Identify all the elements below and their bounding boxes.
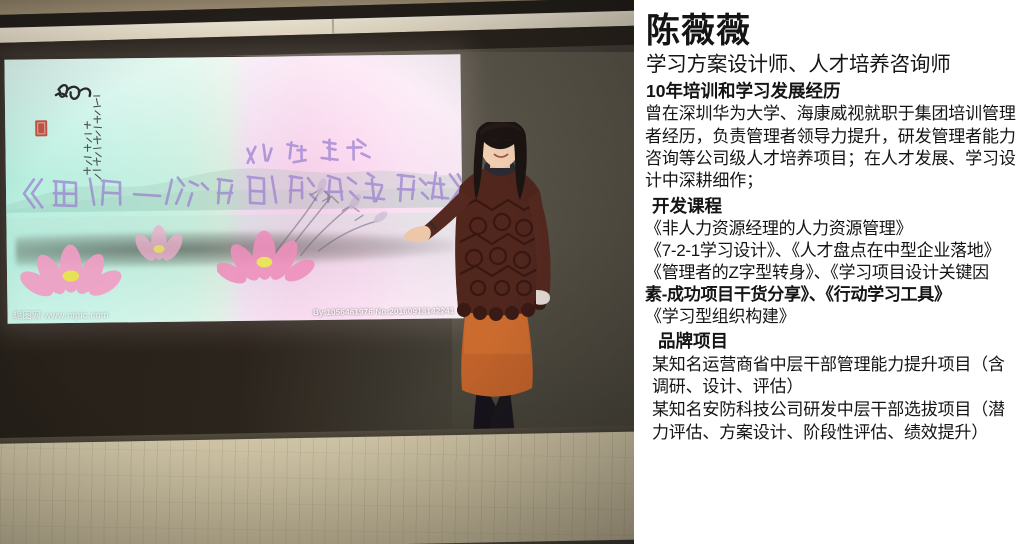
project-line: 某知名运营商省中层干部管理能力提升项目（含 bbox=[652, 354, 1018, 377]
course-line: 《非人力资源经理的人力资源管理》 bbox=[645, 218, 1018, 240]
slide-lotus-flower bbox=[16, 227, 126, 302]
course-line: 《学习型组织构建》 bbox=[645, 306, 1018, 328]
course-line: 《7-2-1学习设计》、《人才盘点在中型企业落地》 bbox=[645, 240, 1018, 262]
slide-watermark-left: 昵图网 www.nipic.com bbox=[13, 308, 109, 322]
presenter-subtitle: 学习方案设计师、人才培养咨询师 bbox=[646, 52, 1018, 77]
section-heading-brand-projects: 品牌项目 bbox=[658, 330, 1018, 352]
section-heading-courses: 开发课程 bbox=[652, 195, 1018, 217]
room-floor bbox=[0, 431, 634, 544]
slide-lotus-flower-right bbox=[216, 214, 317, 294]
project-line: 力评估、方案设计、阶段性评估、绩效提升） bbox=[652, 422, 1018, 445]
trainer-profile-card: 昵图网 www.nipic.com By:1056461976 No:20160… bbox=[0, 0, 1024, 544]
section-heading-experience: 10年培训和学习发展经历 bbox=[646, 80, 1018, 102]
section-body-experience: 曾在深圳华为大学、海康威视就职于集团培训管理者经历，负责管理者领导力提升，研发管… bbox=[645, 103, 1018, 192]
section-brand-projects: 品牌项目 某知名运营商省中层干部管理能力提升项目（含 调研、设计、评估） 某知名… bbox=[644, 330, 1018, 444]
projection-screen: 昵图网 www.nipic.com By:1056461976 No:20160… bbox=[4, 54, 463, 324]
section-courses: 开发课程 《非人力资源经理的人力资源管理》 《7-2-1学习设计》、《人才盘点在… bbox=[644, 195, 1018, 329]
profile-text-panel: 陈薇薇 学习方案设计师、人才培养咨询师 10年培训和学习发展经历 曾在深圳华为大… bbox=[634, 0, 1024, 544]
slide-lotus-bud bbox=[116, 210, 203, 274]
project-line: 某知名安防科技公司研发中层干部选拔项目（潜 bbox=[652, 399, 1018, 422]
presenter-photograph: 昵图网 www.nipic.com By:1056461976 No:20160… bbox=[0, 0, 634, 544]
project-line: 调研、设计、评估） bbox=[652, 376, 1018, 399]
presenter-name: 陈薇薇 bbox=[646, 12, 1018, 50]
section-experience: 10年培训和学习发展经历 曾在深圳华为大学、海康威视就职于集团培训管理者经历，负… bbox=[644, 80, 1018, 192]
course-line: 素-成功项目干货分享》、《行动学习工具》 bbox=[645, 284, 1018, 306]
course-line: 《管理者的Z字型转身》、《学习项目设计关键因 bbox=[645, 262, 1018, 284]
